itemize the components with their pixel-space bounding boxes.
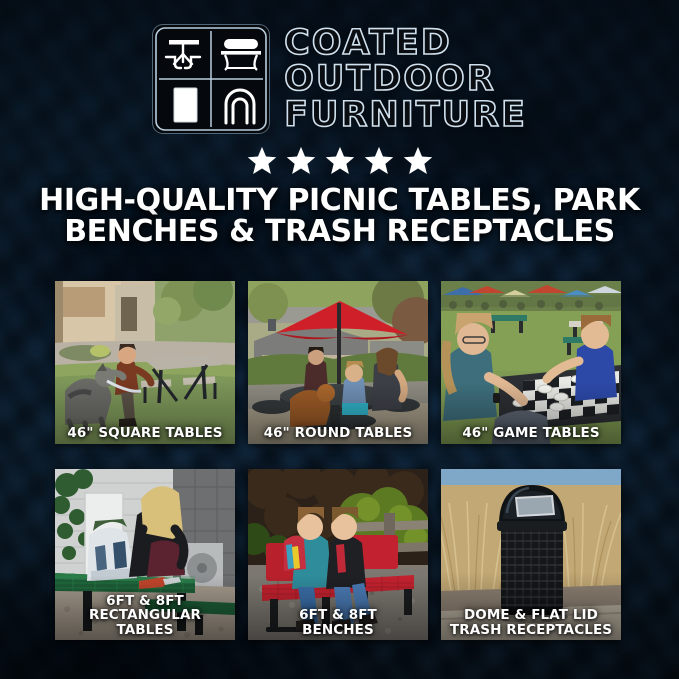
product-caption-line-1: 46" GAME TABLES bbox=[445, 426, 617, 440]
product-tile-round-tables[interactable]: 46" ROUND TABLES bbox=[248, 281, 428, 444]
brand-logo: COATED OUTDOOR FURNITURE bbox=[0, 0, 679, 134]
product-tile-rectangular-tables[interactable]: 6FT & 8FT RECTANGULAR TABLES bbox=[55, 469, 235, 640]
promotional-poster: COATED OUTDOOR FURNITURE HIGH-QUALITY PI… bbox=[0, 0, 679, 679]
star-icon bbox=[403, 146, 433, 175]
star-icon bbox=[286, 146, 316, 175]
product-tile-trash-receptacles[interactable]: DOME & FLAT LID TRASH RECEPTACLES bbox=[441, 469, 621, 640]
product-caption-line-1: 6FT & 8FT bbox=[252, 608, 424, 622]
product-caption: 6FT & 8FT RECTANGULAR TABLES bbox=[55, 594, 235, 637]
product-tile-game-tables[interactable]: 46" GAME TABLES bbox=[441, 281, 621, 444]
page-title: HIGH-QUALITY PICNIC TABLES, PARK BENCHES… bbox=[0, 185, 679, 247]
star-icon bbox=[325, 146, 355, 175]
star-rating bbox=[0, 146, 679, 175]
product-photo bbox=[248, 281, 428, 444]
brand-name-line-1: COATED bbox=[284, 26, 527, 60]
product-caption-line-1: 46" SQUARE TABLES bbox=[59, 426, 231, 440]
product-caption: 46" ROUND TABLES bbox=[248, 426, 428, 440]
product-caption-line-2: TRASH RECEPTACLES bbox=[445, 623, 617, 637]
product-caption: 46" SQUARE TABLES bbox=[55, 426, 235, 440]
star-icon bbox=[247, 146, 277, 175]
product-caption: 46" GAME TABLES bbox=[441, 426, 621, 440]
headline-line-1: HIGH-QUALITY PICNIC TABLES, PARK bbox=[26, 185, 653, 216]
product-caption-line-2: RECTANGULAR TABLES bbox=[59, 608, 231, 637]
product-tile-benches[interactable]: 6FT & 8FT BENCHES bbox=[248, 469, 428, 640]
product-caption: 6FT & 8FT BENCHES bbox=[248, 608, 428, 637]
product-caption-line-1: DOME & FLAT LID bbox=[445, 608, 617, 622]
flat-lid-receptacle-icon bbox=[174, 88, 197, 122]
poster-header: COATED OUTDOOR FURNITURE HIGH-QUALITY PI… bbox=[0, 0, 679, 247]
headline-line-2: BENCHES & TRASH RECEPTACLES bbox=[26, 216, 653, 247]
product-grid: 46" SQUARE TABLES bbox=[55, 281, 622, 640]
product-tile-square-tables[interactable]: 46" SQUARE TABLES bbox=[55, 281, 235, 444]
four-product-grid-icon bbox=[152, 24, 270, 134]
brand-name-line-3: FURNITURE bbox=[284, 98, 527, 132]
product-caption-line-1: 46" ROUND TABLES bbox=[252, 426, 424, 440]
star-icon bbox=[364, 146, 394, 175]
product-photo bbox=[441, 281, 621, 444]
product-caption-line-2: BENCHES bbox=[252, 623, 424, 637]
product-photo bbox=[55, 281, 235, 444]
product-caption: DOME & FLAT LID TRASH RECEPTACLES bbox=[441, 608, 621, 637]
brand-name: COATED OUTDOOR FURNITURE bbox=[284, 26, 527, 133]
brand-name-line-2: OUTDOOR bbox=[284, 62, 527, 96]
